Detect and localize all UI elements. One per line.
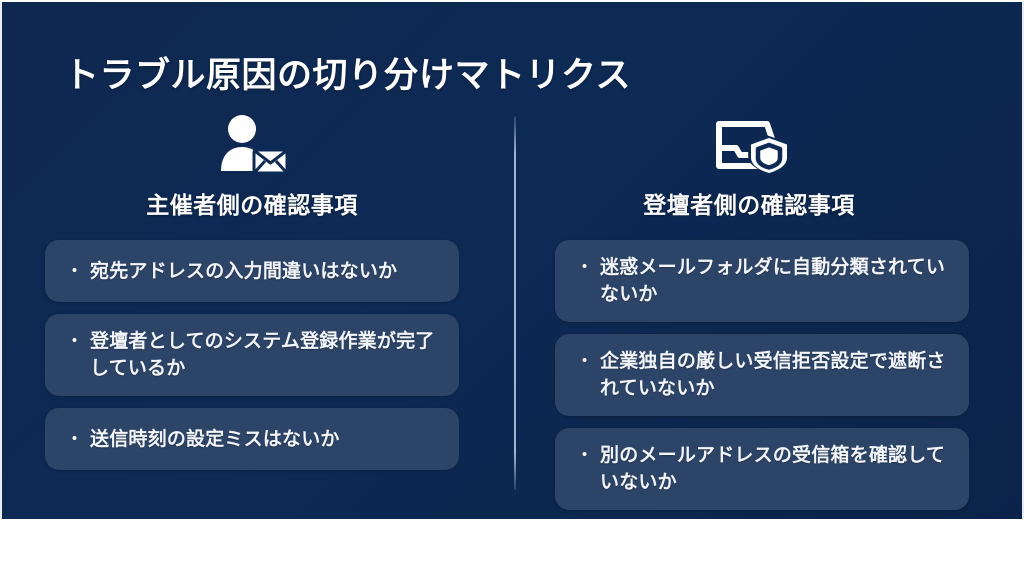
bullet-icon: ・	[575, 442, 594, 469]
column-organizer: 主催者側の確認事項 ・ 宛先アドレスの入力間違いはないか ・ 登壇者としてのシス…	[32, 114, 472, 470]
page-title: トラブル原因の切り分けマトリクス	[64, 47, 631, 98]
list-item[interactable]: ・ 迷惑メールフォルダに自動分類されていないか	[555, 240, 969, 322]
bottom-white-band	[0, 519, 1024, 576]
column-heading-speaker: 登壇者側の確認事項	[529, 186, 969, 220]
checklist-speaker: ・ 迷惑メールフォルダに自動分類されていないか ・ 企業独自の厳しい受信拒否設定…	[529, 240, 969, 510]
list-item[interactable]: ・ 別のメールアドレスの受信箱を確認していないか	[555, 428, 969, 510]
list-item[interactable]: ・ 宛先アドレスの入力間違いはないか	[45, 240, 459, 302]
column-speaker: 登壇者側の確認事項 ・ 迷惑メールフォルダに自動分類されていないか ・ 企業独自…	[529, 114, 969, 510]
bullet-icon: ・	[65, 328, 84, 355]
list-item-label: 登壇者としてのシステム登録作業が完了しているか	[90, 328, 441, 382]
list-item-label: 宛先アドレスの入力間違いはないか	[90, 258, 397, 285]
list-item[interactable]: ・ 送信時刻の設定ミスはないか	[45, 408, 459, 470]
checklist-organizer: ・ 宛先アドレスの入力間違いはないか ・ 登壇者としてのシステム登録作業が完了し…	[32, 240, 472, 470]
list-item[interactable]: ・ 企業独自の厳しい受信拒否設定で遮断されていないか	[555, 334, 969, 416]
list-item[interactable]: ・ 登壇者としてのシステム登録作業が完了しているか	[45, 314, 459, 396]
list-item-label: 迷惑メールフォルダに自動分類されていないか	[600, 254, 951, 308]
column-heading-organizer: 主催者側の確認事項	[32, 186, 472, 220]
list-item-label: 企業独自の厳しい受信拒否設定で遮断されていないか	[600, 348, 951, 402]
person-with-envelope-icon	[32, 114, 472, 176]
bullet-icon: ・	[575, 348, 594, 375]
column-divider	[514, 116, 516, 490]
list-item-label: 別のメールアドレスの受信箱を確認していないか	[600, 442, 951, 496]
list-item-label: 送信時刻の設定ミスはないか	[90, 426, 340, 453]
bullet-icon: ・	[65, 426, 84, 453]
slide-canvas: トラブル原因の切り分けマトリクス 主催者側の確認事項 ・ 宛先アドレスの入力間違…	[0, 0, 1024, 519]
bullet-icon: ・	[575, 254, 594, 281]
inbox-with-shield-icon	[529, 114, 969, 176]
bullet-icon: ・	[65, 258, 84, 285]
